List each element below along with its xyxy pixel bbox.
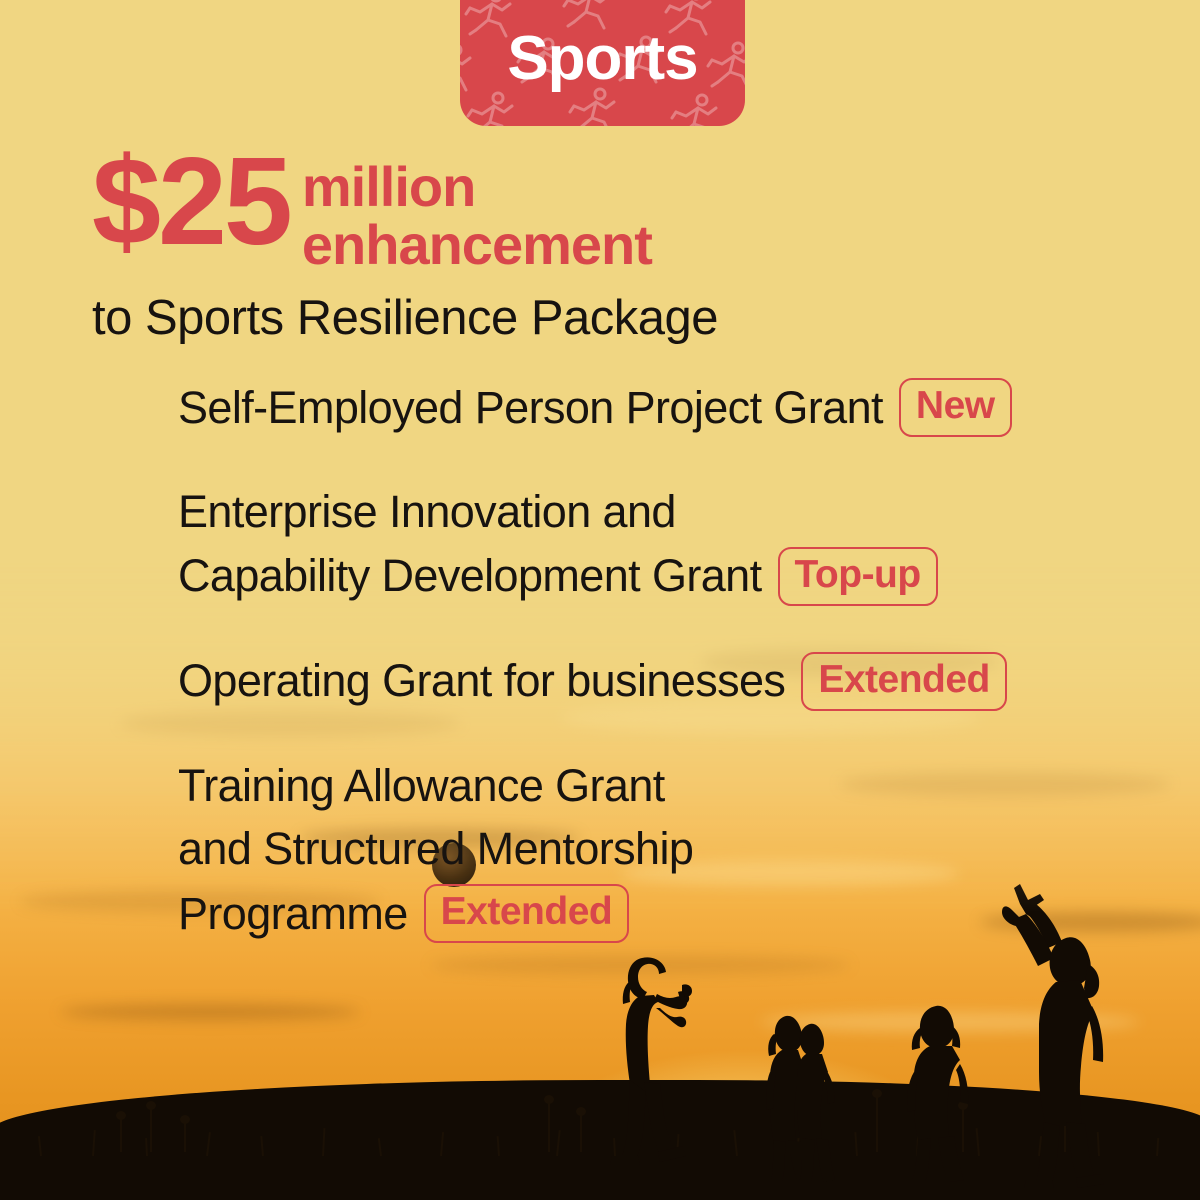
grant-line: and Structured Mentorship: [178, 820, 1138, 878]
grant-title: Self-Employed Person Project Grant: [178, 379, 883, 437]
category-label: Sports: [460, 28, 745, 90]
grant-title: Training Allowance Grant: [178, 757, 665, 815]
grant-line: Operating Grant for businesses Extended: [178, 652, 1138, 711]
grant-item: Training Allowance Grant and Structured …: [178, 757, 1138, 943]
cloud: [60, 1004, 360, 1020]
grant-item: Self-Employed Person Project Grant New: [178, 378, 1138, 437]
grant-title: Operating Grant for businesses: [178, 652, 785, 710]
weed: [120, 1118, 122, 1152]
status-badge: Top-up: [778, 547, 938, 606]
grant-title: and Structured Mentorship: [178, 820, 693, 878]
grant-item: Operating Grant for businesses Extended: [178, 652, 1138, 711]
grant-line: Programme Extended: [178, 884, 1138, 943]
weed: [876, 1096, 878, 1152]
grant-line: Training Allowance Grant: [178, 757, 1138, 815]
status-badge: New: [899, 378, 1012, 437]
grant-line: Self-Employed Person Project Grant New: [178, 378, 1138, 437]
weed: [184, 1122, 186, 1152]
amount-words: million enhancement: [302, 158, 652, 274]
grant-title: Enterprise Innovation and: [178, 483, 676, 541]
headline: $25 million enhancement: [92, 148, 652, 274]
amount-unit-line-2: enhancement: [302, 216, 652, 274]
weed: [580, 1114, 582, 1152]
grant-line: Enterprise Innovation and: [178, 483, 1138, 541]
amount-figure: $25: [92, 148, 290, 257]
headline-subtitle: to Sports Resilience Package: [92, 290, 718, 346]
player-silhouette-child: [898, 1002, 992, 1184]
category-badge: Sports: [460, 0, 745, 126]
weed: [150, 1108, 152, 1152]
players-silhouette-pair: [762, 1012, 848, 1184]
infographic-poster: Sports $25 million enhancement to Sports…: [0, 0, 1200, 1200]
status-badge: Extended: [801, 652, 1007, 711]
grant-title: Capability Development Grant: [178, 547, 762, 605]
grant-line: Capability Development Grant Top-up: [178, 547, 1138, 606]
grant-item: Enterprise Innovation and Capability Dev…: [178, 483, 1138, 606]
weed: [548, 1102, 550, 1152]
amount-unit-line-1: million: [302, 158, 652, 216]
status-badge: Extended: [424, 884, 630, 943]
grant-title: Programme: [178, 885, 408, 943]
grant-list: Self-Employed Person Project Grant New E…: [178, 378, 1138, 989]
